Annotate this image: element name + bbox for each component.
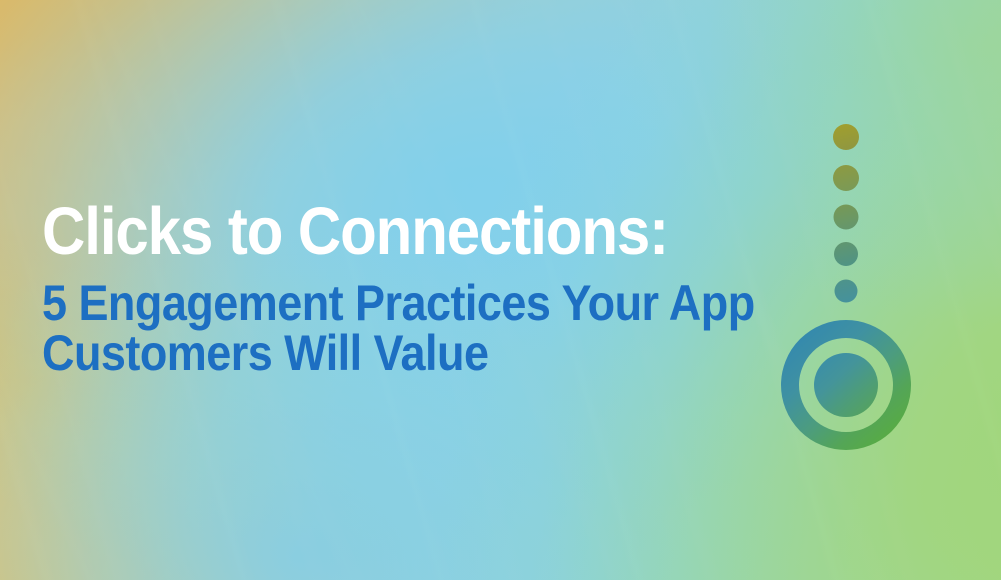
page-subtitle-line-1: 5 Engagement Practices Your App [42,278,708,328]
page-subtitle: 5 Engagement Practices Your App Customer… [42,268,708,378]
title-text-block: Clicks to Connections: 5 Engagement Prac… [42,196,782,378]
page-title: Clicks to Connections: [42,196,704,268]
page-subtitle-line-2: Customers Will Value [42,328,708,378]
marketing-banner: Clicks to Connections: 5 Engagement Prac… [0,0,1001,580]
